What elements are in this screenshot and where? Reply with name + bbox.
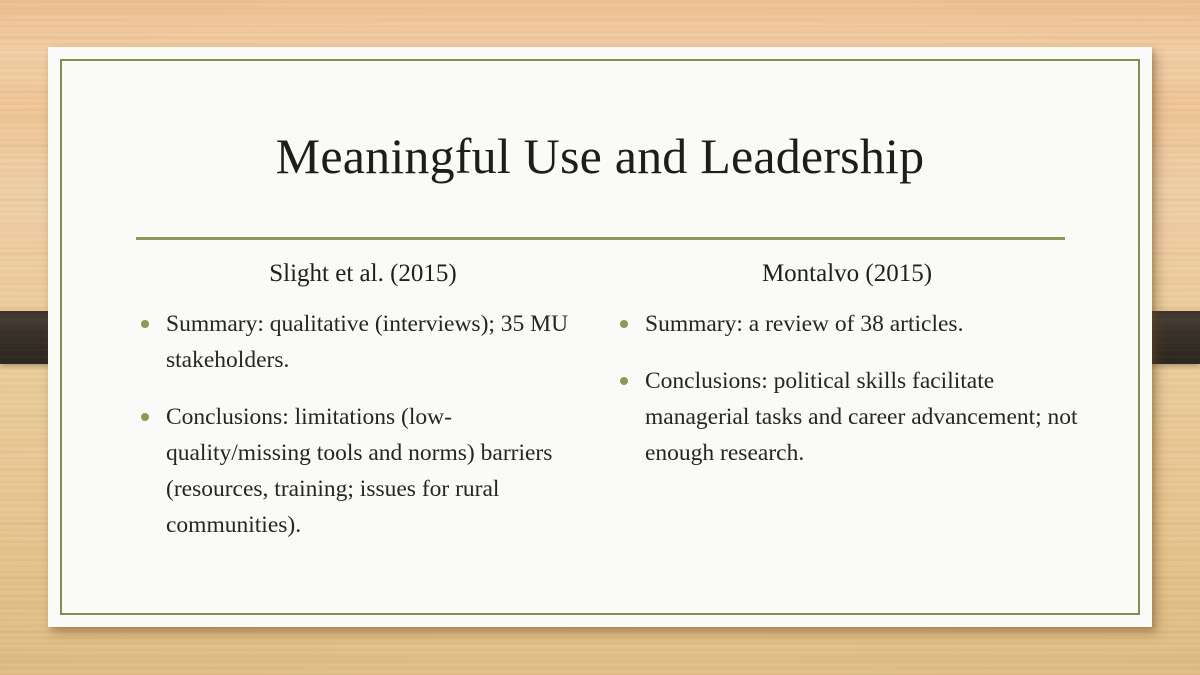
slide-canvas: Meaningful Use and Leadership Slight et …	[0, 0, 1200, 675]
bullet-dot-icon	[141, 413, 149, 421]
column-right-bullet-list: Summary: a review of 38 articles. Conclu…	[612, 306, 1082, 471]
column-right-heading: Montalvo (2015)	[612, 258, 1082, 290]
slide-title: Meaningful Use and Leadership	[90, 126, 1110, 186]
list-item-text: Conclusions: political skills facilitate…	[645, 368, 1078, 466]
bullet-dot-icon	[620, 377, 628, 385]
column-left-bullet-list: Summary: qualitative (interviews); 35 MU…	[133, 306, 593, 543]
list-item: Conclusions: political skills facilitate…	[612, 363, 1082, 471]
list-item-text: Conclusions: limitations (low-quality/mi…	[166, 404, 552, 538]
content-column-right: Montalvo (2015) Summary: a review of 38 …	[612, 258, 1082, 471]
list-item-text: Summary: qualitative (interviews); 35 MU…	[166, 311, 568, 373]
content-column-left: Slight et al. (2015) Summary: qualitativ…	[133, 258, 593, 543]
list-item: Conclusions: limitations (low-quality/mi…	[133, 399, 593, 543]
list-item: Summary: a review of 38 articles.	[612, 306, 1082, 342]
title-divider	[136, 237, 1065, 240]
bullet-dot-icon	[620, 320, 628, 328]
column-left-heading: Slight et al. (2015)	[133, 258, 593, 290]
list-item-text: Summary: a review of 38 articles.	[645, 311, 963, 337]
list-item: Summary: qualitative (interviews); 35 MU…	[133, 306, 593, 378]
bullet-dot-icon	[141, 320, 149, 328]
